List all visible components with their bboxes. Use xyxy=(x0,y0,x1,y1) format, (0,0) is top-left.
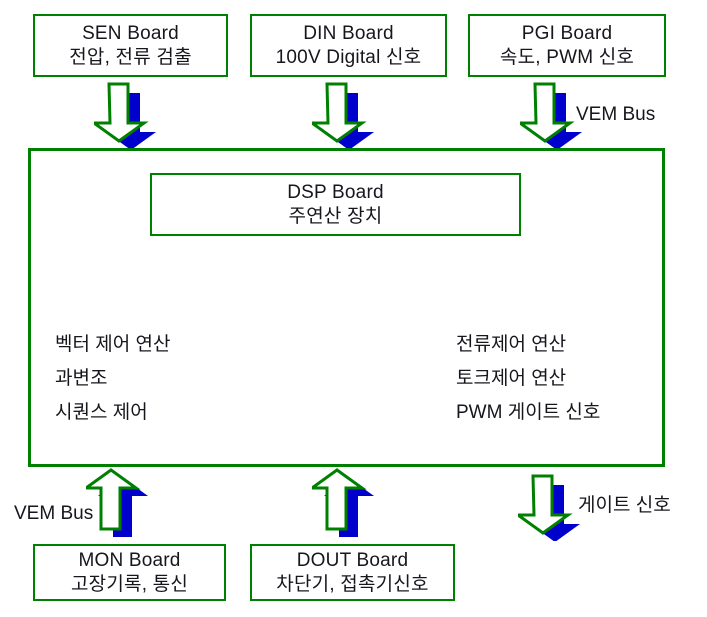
mon-board-title: MON Board xyxy=(78,549,180,572)
diagram-canvas: SEN Board 전압, 전류 검출 DIN Board 100V Digit… xyxy=(0,0,707,617)
pgi-board-title: PGI Board xyxy=(522,22,613,45)
dout-board-subtitle: 차단기, 접촉기신호 xyxy=(276,573,428,596)
sen-board-title: SEN Board xyxy=(82,22,179,45)
function-item: 벡터 제어 연산 xyxy=(55,328,170,362)
up-arrow-icon-mon-to-main xyxy=(86,468,148,544)
pgi-board-box: PGI Board 속도, PWM 신호 xyxy=(468,14,666,77)
function-item: PWM 게이트 신호 xyxy=(456,396,600,430)
sen-board-box: SEN Board 전압, 전류 검출 xyxy=(33,14,228,77)
up-arrow-icon-dout-to-main xyxy=(312,468,374,544)
mon-board-box: MON Board 고장기록, 통신 xyxy=(33,544,226,601)
dout-board-title: DOUT Board xyxy=(297,549,408,572)
function-item: 과변조 xyxy=(55,362,170,396)
vem-bus-label-top: VEM Bus xyxy=(576,104,655,126)
function-list-right: 전류제어 연산 토크제어 연산 PWM 게이트 신호 xyxy=(456,328,600,430)
function-item: 시퀀스 제어 xyxy=(55,396,170,430)
dsp-board-box: DSP Board 주연산 장치 xyxy=(150,173,521,236)
down-arrow-icon-gate-signal-out xyxy=(518,474,580,541)
dout-board-box: DOUT Board 차단기, 접촉기신호 xyxy=(250,544,455,601)
down-arrow-icon-din-to-main xyxy=(312,82,374,149)
gate-signal-label: 게이트 신호 xyxy=(578,490,671,517)
din-board-box: DIN Board 100V Digital 신호 xyxy=(250,14,447,77)
vem-bus-label-bottom: VEM Bus xyxy=(14,503,93,525)
down-arrow-icon-pgi-to-main xyxy=(520,82,582,149)
sen-board-subtitle: 전압, 전류 검출 xyxy=(69,46,192,69)
din-board-title: DIN Board xyxy=(303,22,394,45)
function-list-left: 벡터 제어 연산 과변조 시퀀스 제어 xyxy=(55,328,170,430)
function-item: 전류제어 연산 xyxy=(456,328,600,362)
din-board-subtitle: 100V Digital 신호 xyxy=(276,46,422,69)
pgi-board-subtitle: 속도, PWM 신호 xyxy=(500,46,634,69)
function-item: 토크제어 연산 xyxy=(456,362,600,396)
mon-board-subtitle: 고장기록, 통신 xyxy=(71,573,188,596)
dsp-board-subtitle: 주연산 장치 xyxy=(289,205,383,228)
down-arrow-icon-sen-to-main xyxy=(94,82,156,149)
dsp-board-title: DSP Board xyxy=(287,181,384,204)
